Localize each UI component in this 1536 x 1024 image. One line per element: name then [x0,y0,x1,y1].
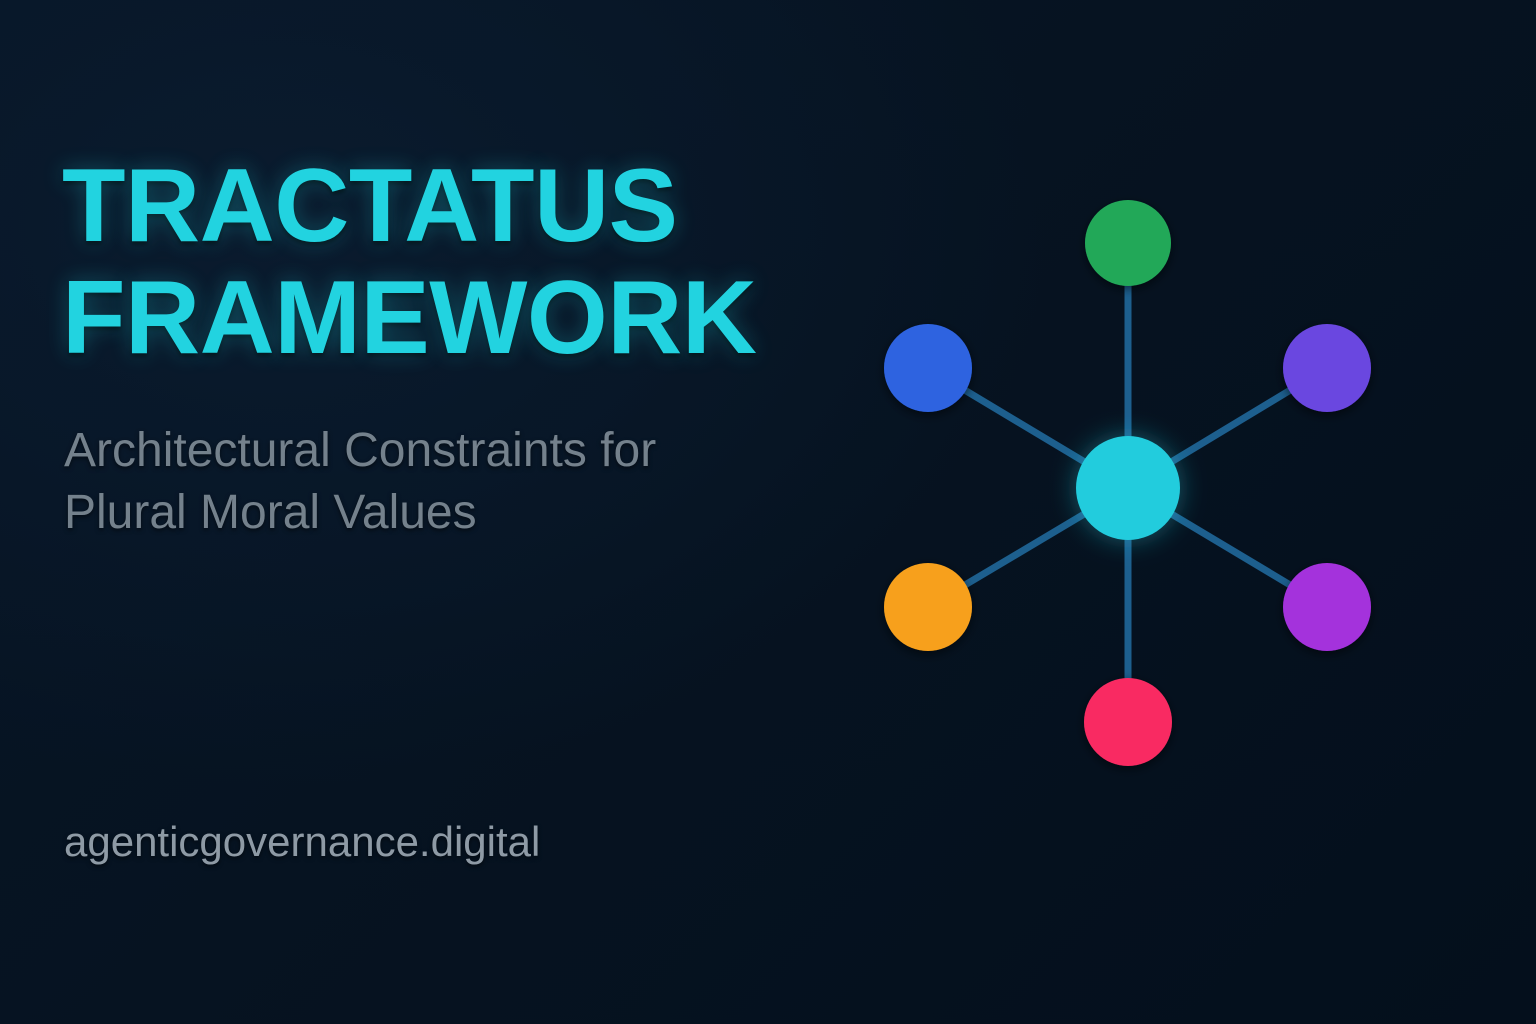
footer-url: agenticgovernance.digital [64,818,540,866]
node-lower-right[interactable] [1283,563,1371,651]
node-bottom[interactable] [1084,678,1172,766]
hub-node[interactable] [1076,436,1180,540]
node-upper-right[interactable] [1283,324,1371,412]
node-upper-left[interactable] [884,324,972,412]
diagram-nodes [884,200,1371,766]
diagram-edge [1169,389,1292,463]
diagram-edge [963,389,1087,463]
node-lower-left[interactable] [884,563,972,651]
page-subtitle: Architectural Constraints for Plural Mor… [64,420,656,545]
network-diagram [820,110,1440,910]
diagram-edge [1169,513,1292,586]
title-card: TRACTATUS FRAMEWORK Architectural Constr… [0,0,1536,1024]
hero-text-block: TRACTATUS FRAMEWORK Architectural Constr… [62,0,842,1024]
node-top[interactable] [1085,200,1171,286]
diagram-edge [963,513,1087,586]
page-title: TRACTATUS FRAMEWORK [62,150,757,375]
